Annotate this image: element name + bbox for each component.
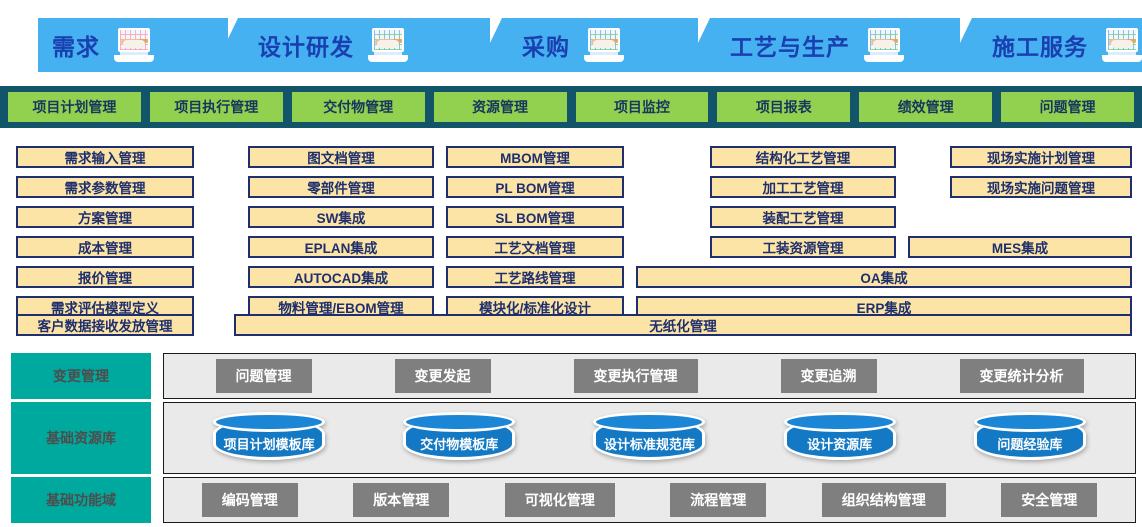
base-item-5[interactable]: 安全管理 bbox=[1001, 483, 1097, 517]
layer-resource-libraries: 基础资源库 项目计划模板库 交付物模板库 设计标准规范库 设计资源库 bbox=[0, 402, 1142, 474]
change-item-2[interactable]: 变更执行管理 bbox=[574, 359, 698, 393]
module-box-design-3[interactable]: EPLAN集成 bbox=[248, 236, 434, 258]
base-item-1[interactable]: 版本管理 bbox=[353, 483, 449, 517]
green-band-item-1[interactable]: 项目执行管理 bbox=[150, 92, 283, 122]
layer-label-resource: 基础资源库 bbox=[11, 402, 151, 474]
database-label: 设计标准规范库 bbox=[590, 434, 708, 453]
module-box-req-2[interactable]: 方案管理 bbox=[16, 206, 194, 228]
change-item-3[interactable]: 变更追溯 bbox=[781, 359, 877, 393]
phase-label: 工艺与生产 bbox=[730, 28, 850, 62]
base-item-0[interactable]: 编码管理 bbox=[202, 483, 298, 517]
database-label: 设计资源库 bbox=[781, 434, 899, 453]
module-box-bom-1[interactable]: PL BOM管理 bbox=[446, 176, 624, 198]
green-band-item-6[interactable]: 绩效管理 bbox=[859, 92, 992, 122]
module-area: 需求输入管理 需求参数管理 方案管理 成本管理 报价管理 需求评估模型定义 客户… bbox=[0, 132, 1142, 347]
phase-label: 需求 bbox=[52, 28, 100, 62]
layer-label-base: 基础功能域 bbox=[11, 477, 151, 523]
base-item-2[interactable]: 可视化管理 bbox=[505, 483, 615, 517]
project-management-band: 项目计划管理 项目执行管理 交付物管理 资源管理 项目监控 项目报表 绩效管理 … bbox=[0, 86, 1142, 128]
database-icon-1[interactable]: 交付物模板库 bbox=[400, 408, 518, 468]
module-box-design-2[interactable]: SW集成 bbox=[248, 206, 434, 228]
green-band-item-3[interactable]: 资源管理 bbox=[434, 92, 567, 122]
layer-panel-change: 问题管理 变更发起 变更执行管理 变更追溯 变更统计分析 bbox=[163, 353, 1136, 399]
module-box-req-6[interactable]: 客户数据接收发放管理 bbox=[16, 314, 194, 336]
phase-item-1[interactable]: 设计研发 bbox=[212, 18, 490, 72]
laptop-icon bbox=[368, 28, 408, 62]
module-box-req-3[interactable]: 成本管理 bbox=[16, 236, 194, 258]
green-band-item-7[interactable]: 问题管理 bbox=[1001, 92, 1134, 122]
change-item-1[interactable]: 变更发起 bbox=[395, 359, 491, 393]
base-item-3[interactable]: 流程管理 bbox=[670, 483, 766, 517]
change-item-0[interactable]: 问题管理 bbox=[216, 359, 312, 393]
phase-item-2[interactable]: 采购 bbox=[476, 18, 698, 72]
layer-base-functions: 基础功能域 编码管理 版本管理 可视化管理 流程管理 组织结构管理 安全管理 bbox=[0, 477, 1142, 523]
module-box-process-1[interactable]: 加工工艺管理 bbox=[710, 176, 896, 198]
module-box-site-0[interactable]: 现场实施计划管理 bbox=[950, 146, 1132, 168]
database-icon-3[interactable]: 设计资源库 bbox=[781, 408, 899, 468]
module-box-process-2[interactable]: 装配工艺管理 bbox=[710, 206, 896, 228]
module-box-bom-3[interactable]: 工艺文档管理 bbox=[446, 236, 624, 258]
green-band-item-5[interactable]: 项目报表 bbox=[717, 92, 850, 122]
diagram-root: 需求 设计研发 采购 工艺与生产 施工服务 bbox=[0, 0, 1142, 527]
module-box-oa[interactable]: OA集成 bbox=[636, 266, 1132, 288]
database-icon-2[interactable]: 设计标准规范库 bbox=[590, 408, 708, 468]
layer-label-change: 变更管理 bbox=[11, 353, 151, 399]
laptop-icon bbox=[864, 28, 904, 62]
module-box-bom-2[interactable]: SL BOM管理 bbox=[446, 206, 624, 228]
laptop-icon bbox=[114, 28, 154, 62]
module-box-process-0[interactable]: 结构化工艺管理 bbox=[710, 146, 896, 168]
green-band-item-2[interactable]: 交付物管理 bbox=[292, 92, 425, 122]
phase-label: 设计研发 bbox=[258, 28, 354, 62]
phase-item-3[interactable]: 工艺与生产 bbox=[684, 18, 960, 72]
phase-label: 施工服务 bbox=[992, 28, 1088, 62]
change-item-4[interactable]: 变更统计分析 bbox=[960, 359, 1084, 393]
database-label: 交付物模板库 bbox=[400, 434, 518, 453]
module-box-paperless[interactable]: 无纸化管理 bbox=[234, 314, 1132, 336]
module-box-design-0[interactable]: 图文档管理 bbox=[248, 146, 434, 168]
module-box-design-4[interactable]: AUTOCAD集成 bbox=[248, 266, 434, 288]
module-box-bom-4[interactable]: 工艺路线管理 bbox=[446, 266, 624, 288]
base-item-4[interactable]: 组织结构管理 bbox=[822, 483, 946, 517]
module-box-req-1[interactable]: 需求参数管理 bbox=[16, 176, 194, 198]
phase-item-4[interactable]: 施工服务 bbox=[946, 18, 1142, 72]
module-box-req-0[interactable]: 需求输入管理 bbox=[16, 146, 194, 168]
green-band-item-4[interactable]: 项目监控 bbox=[576, 92, 709, 122]
module-box-mes[interactable]: MES集成 bbox=[908, 236, 1132, 258]
phase-item-0[interactable]: 需求 bbox=[38, 18, 228, 72]
layer-panel-base: 编码管理 版本管理 可视化管理 流程管理 组织结构管理 安全管理 bbox=[163, 477, 1136, 523]
layer-panel-resource: 项目计划模板库 交付物模板库 设计标准规范库 设计资源库 问题经验库 bbox=[163, 402, 1136, 474]
green-band-item-0[interactable]: 项目计划管理 bbox=[8, 92, 141, 122]
layer-change-management: 变更管理 问题管理 变更发起 变更执行管理 变更追溯 变更统计分析 bbox=[0, 353, 1142, 399]
phase-band: 需求 设计研发 采购 工艺与生产 施工服务 bbox=[0, 0, 1142, 82]
module-box-process-3[interactable]: 工装资源管理 bbox=[710, 236, 896, 258]
module-box-site-1[interactable]: 现场实施问题管理 bbox=[950, 176, 1132, 198]
database-icon-4[interactable]: 问题经验库 bbox=[971, 408, 1089, 468]
phase-label: 采购 bbox=[522, 28, 570, 62]
laptop-icon bbox=[584, 28, 624, 62]
database-icon-0[interactable]: 项目计划模板库 bbox=[210, 408, 328, 468]
database-label: 问题经验库 bbox=[971, 434, 1089, 453]
laptop-icon bbox=[1102, 28, 1142, 62]
foundation-layers: 变更管理 问题管理 变更发起 变更执行管理 变更追溯 变更统计分析 基础资源库 … bbox=[0, 349, 1142, 527]
module-box-design-1[interactable]: 零部件管理 bbox=[248, 176, 434, 198]
database-label: 项目计划模板库 bbox=[210, 434, 328, 453]
module-box-req-4[interactable]: 报价管理 bbox=[16, 266, 194, 288]
module-box-bom-0[interactable]: MBOM管理 bbox=[446, 146, 624, 168]
